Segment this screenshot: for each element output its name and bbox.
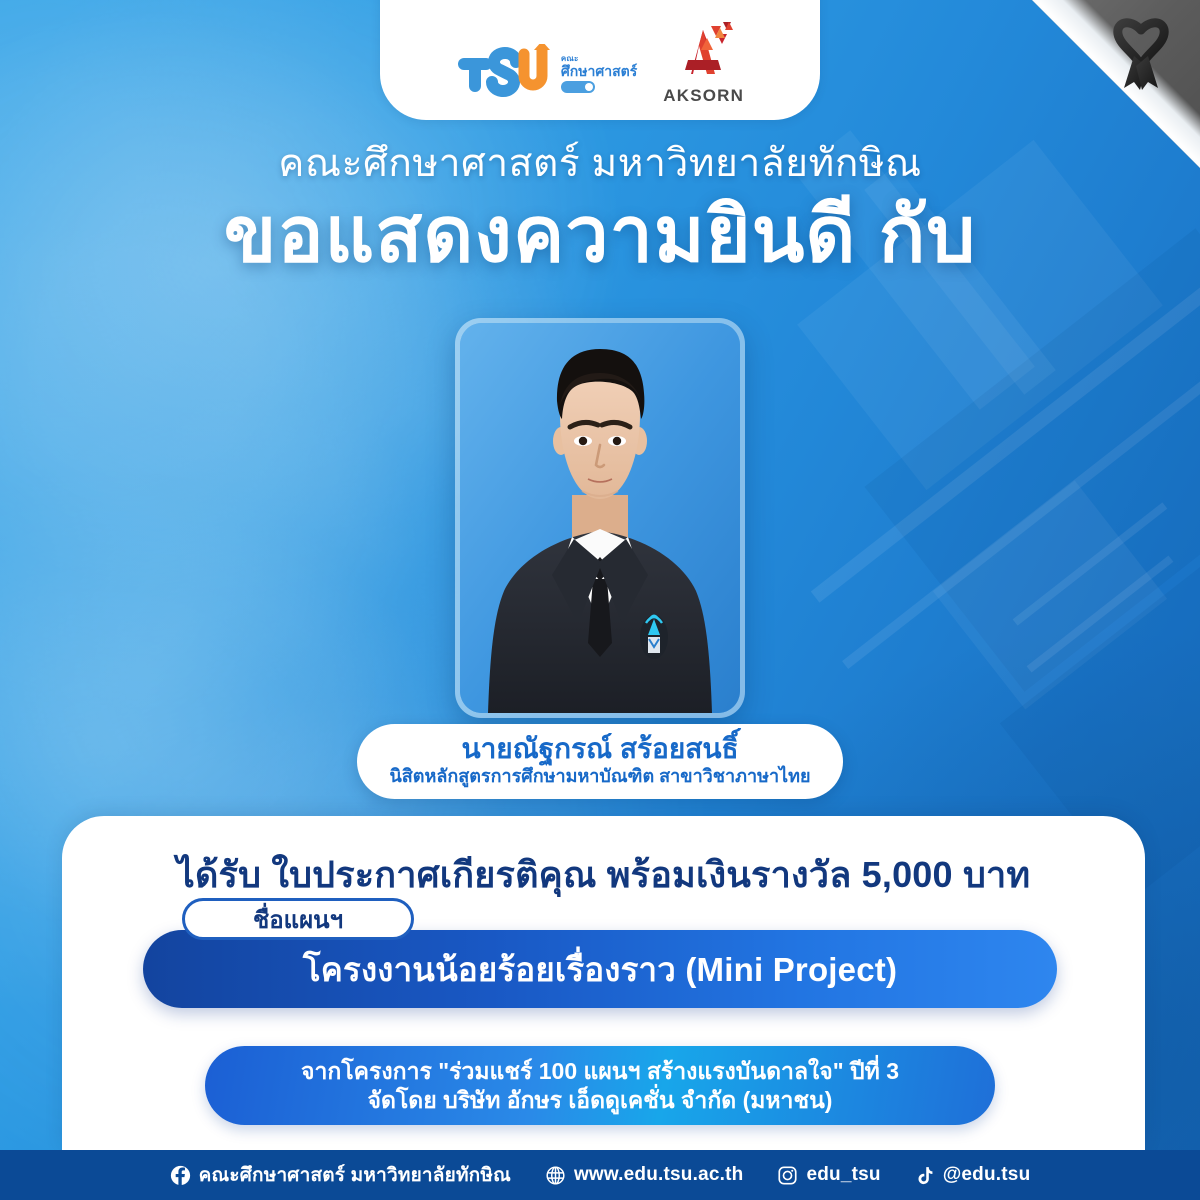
organization-heading: คณะศึกษาศาสตร์ มหาวิทยาลัยทักษิณ: [0, 142, 1200, 186]
student-name-card: นายณัฐกรณ์ สร้อยสนธิ์ นิสิตหลักสูตรการศึ…: [357, 724, 843, 799]
footer-label-instagram: edu_tsu: [806, 1164, 880, 1186]
project-title-bar: โครงงานน้อยร้อยเรื่องราว (Mini Project): [143, 930, 1057, 1008]
award-received-line: ได้รับ ใบประกาศเกียรติคุณ พร้อมเงินรางวั…: [62, 846, 1145, 903]
heading-block: คณะศึกษาศาสตร์ มหาวิทยาลัยทักษิณ ขอแสดงค…: [0, 142, 1200, 278]
aksorn-logo-icon: [671, 20, 737, 85]
footer-item-website[interactable]: www.edu.tsu.ac.th: [545, 1164, 744, 1186]
black-ribbon-icon: [1110, 14, 1172, 97]
footer-item-facebook[interactable]: คณะศึกษาศาสตร์ มหาวิทยาลัยทักษิณ: [170, 1160, 511, 1190]
source-line-2: จัดโดย บริษัท อักษร เอ็ดดูเคชั่น จำกัด (…: [368, 1086, 833, 1115]
footer-label-facebook: คณะศึกษาศาสตร์ มหาวิทยาลัยทักษิณ: [199, 1160, 511, 1190]
footer-bar: คณะศึกษาศาสตร์ มหาวิทยาลัยทักษิณ www.edu…: [0, 1150, 1200, 1200]
aksorn-wordmark: AKSORN: [663, 86, 744, 106]
congratulation-poster: คณะ ศึกษาศาสตร์ AKSORN: [0, 0, 1200, 1200]
tsu-toggle-mark: [561, 81, 595, 93]
footer-label-tiktok: @edu.tsu: [943, 1164, 1031, 1186]
plan-name-label: ชื่อแผนฯ: [182, 898, 414, 940]
source-line-1: จากโครงการ "ร่วมแชร์ 100 แผนฯ สร้างแรงบั…: [301, 1057, 899, 1086]
tsu-faculty-label: ศึกษาศาสตร์: [561, 64, 637, 78]
footer-item-tiktok[interactable]: @edu.tsu: [915, 1164, 1031, 1186]
instagram-icon: [777, 1165, 798, 1186]
congratulation-heading: ขอแสดงความยินดี กับ: [0, 192, 1200, 278]
student-program: นิสิตหลักสูตรการศึกษามหาบัณฑิต สาขาวิชาภ…: [375, 766, 825, 788]
tsu-kana-label: คณะ: [561, 55, 579, 63]
facebook-icon: [170, 1165, 191, 1186]
student-portrait: [460, 323, 740, 713]
student-name: นายณัฐกรณ์ สร้อยสนธิ์: [375, 733, 825, 765]
tsu-logo-text: คณะ ศึกษาศาสตร์: [561, 55, 637, 95]
aksorn-logo: AKSORN: [663, 20, 744, 106]
logo-header-panel: คณะ ศึกษาศาสตร์ AKSORN: [380, 0, 820, 120]
tiktok-icon: [915, 1165, 935, 1186]
portrait-frame: [455, 318, 745, 718]
source-program-bar: จากโครงการ "ร่วมแชร์ 100 แผนฯ สร้างแรงบั…: [205, 1046, 995, 1125]
tsu-logo-icon: [456, 44, 556, 106]
globe-icon: [545, 1165, 566, 1186]
tsu-logo: คณะ ศึกษาศาสตร์: [456, 44, 637, 106]
footer-label-website: www.edu.tsu.ac.th: [574, 1164, 744, 1186]
project-title: โครงงานน้อยร้อยเรื่องราว (Mini Project): [303, 943, 897, 996]
footer-item-instagram[interactable]: edu_tsu: [777, 1164, 880, 1186]
